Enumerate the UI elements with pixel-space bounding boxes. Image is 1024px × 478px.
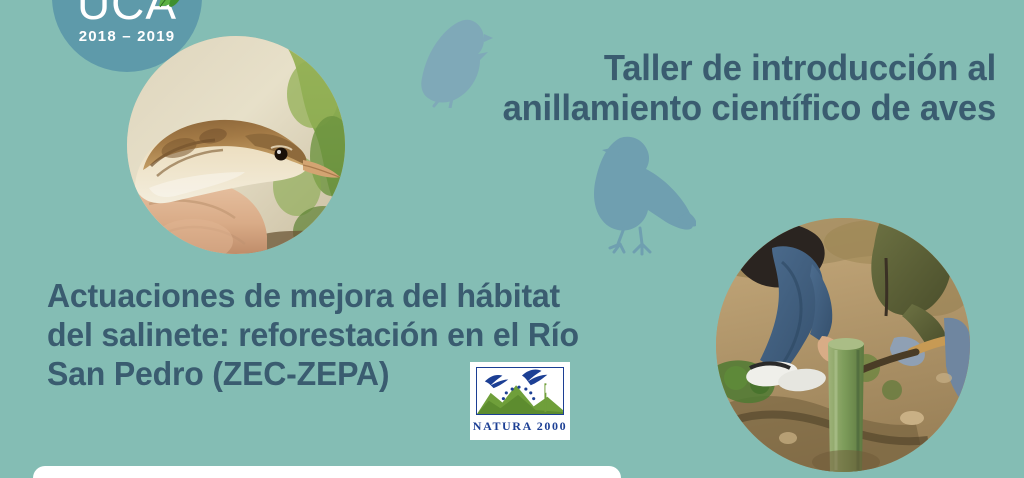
poster-headline: Taller de introducción al anillamiento c… — [362, 48, 996, 129]
bottom-white-panel — [33, 466, 621, 478]
uca-years-label: 2018 – 2019 — [52, 28, 202, 45]
natura-2000-logo: NATURA 2000 — [470, 362, 570, 440]
headline-line-1: Taller de introducción al — [362, 48, 996, 88]
photo-reforestation — [716, 218, 970, 472]
subheadline-line-2: del salinete: reforestación en el Río — [47, 316, 707, 355]
natura-2000-emblem — [476, 367, 564, 415]
poster-subheadline: Actuaciones de mejora del hábitat del sa… — [47, 277, 707, 394]
bird-silhouette-perched-left — [580, 132, 696, 256]
subheadline-line-1: Actuaciones de mejora del hábitat — [47, 277, 707, 316]
natura-2000-label: NATURA 2000 — [470, 419, 570, 434]
leaf-icon — [155, 0, 185, 10]
poster-canvas: UCA 2018 – 2019 — [0, 0, 1024, 478]
headline-line-2: anillamiento científico de aves — [362, 88, 996, 128]
photo-bird-in-hand — [127, 36, 345, 254]
subheadline-line-3: San Pedro (ZEC-ZEPA) — [47, 355, 707, 394]
